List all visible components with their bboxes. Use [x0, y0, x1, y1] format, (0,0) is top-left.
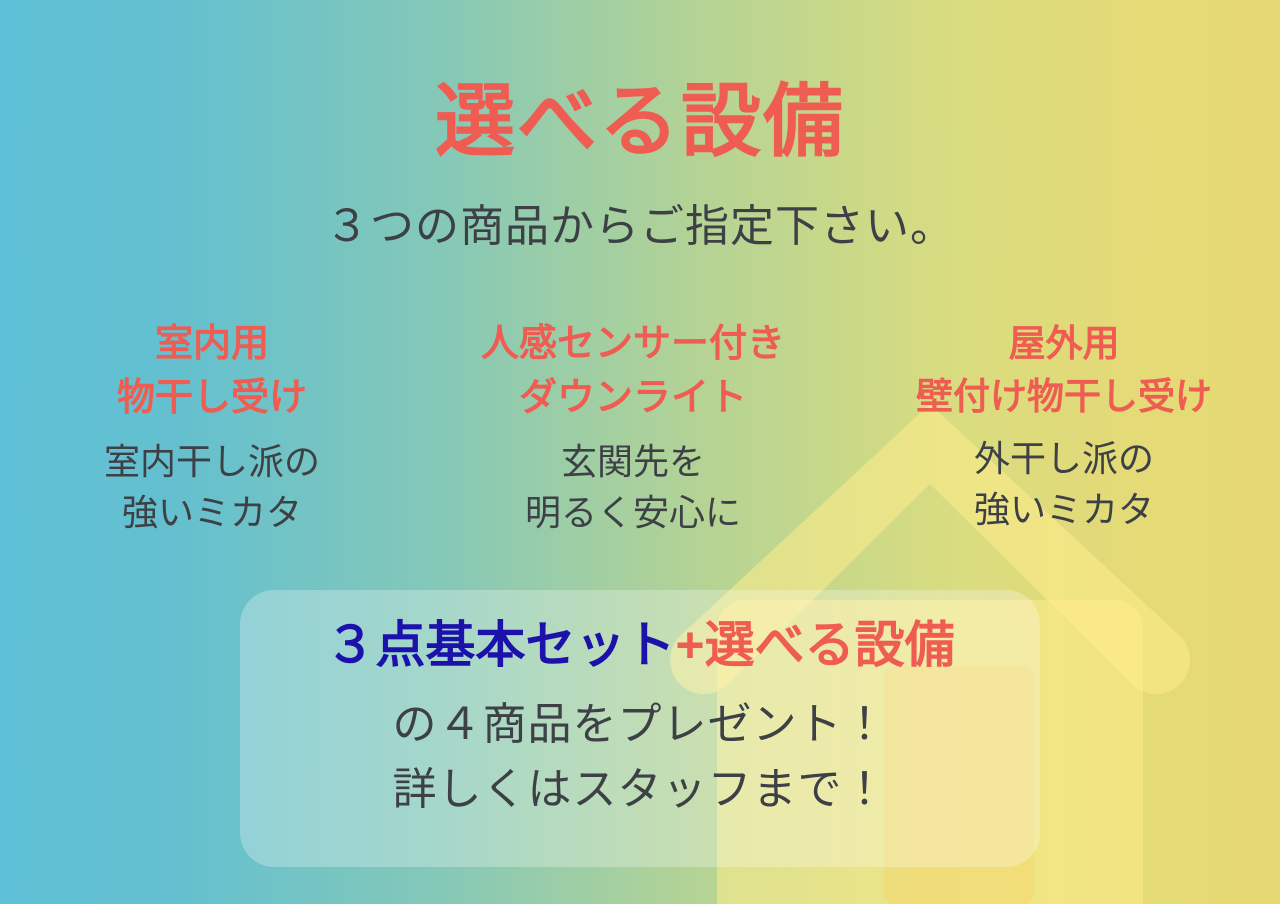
option-heading-line1: 室内用 — [12, 318, 412, 372]
option-desc-line1: 外干し派の — [854, 433, 1274, 484]
promo-plus-sign: + — [675, 617, 704, 673]
option-heading: 屋外用 壁付け物干し受け — [854, 318, 1274, 423]
option-columns: 室内用 物干し受け 室内干し派の 強いミカタ 人感センサー付き ダウンライト 玄… — [0, 318, 1280, 538]
promo-set-label: ３点基本セット — [325, 617, 675, 673]
option-heading-line1: 人感センサー付き — [433, 318, 833, 372]
promo-subline-1: の４商品をプレゼント！ — [0, 703, 1280, 747]
option-heading: 人感センサー付き ダウンライト — [433, 318, 833, 426]
promotional-poster: 選べる設備 ３つの商品からご指定下さい。 室内用 物干し受け 室内干し派の 強い… — [0, 0, 1280, 904]
option-heading-line2: ダウンライト — [433, 372, 833, 426]
option-description: 玄関先を 明るく安心に — [433, 436, 833, 538]
option-description: 室内干し派の 強いミカタ — [12, 436, 412, 538]
option-desc-line1: 玄関先を — [433, 436, 833, 487]
option-column-downlight: 人感センサー付き ダウンライト 玄関先を 明るく安心に — [433, 318, 833, 538]
option-desc-line2: 明るく安心に — [433, 487, 833, 538]
promo-headline: ３点基本セット+選べる設備 — [0, 620, 1280, 670]
promo-subline-2: 詳しくはスタッフまで！ — [0, 768, 1280, 812]
option-heading-line2: 壁付け物干し受け — [854, 371, 1274, 424]
option-column-indoor: 室内用 物干し受け 室内干し派の 強いミカタ — [12, 318, 412, 538]
option-heading: 室内用 物干し受け — [12, 318, 412, 426]
option-desc-line2: 強いミカタ — [12, 487, 412, 538]
option-desc-line1: 室内干し派の — [12, 436, 412, 487]
promo-equip-label: 選べる設備 — [705, 617, 955, 673]
page-title: 選べる設備 — [0, 82, 1280, 162]
option-heading-line2: 物干し受け — [12, 372, 412, 426]
option-description: 外干し派の 強いミカタ — [854, 433, 1274, 535]
option-heading-line1: 屋外用 — [854, 318, 1274, 371]
option-desc-line2: 強いミカタ — [854, 484, 1274, 535]
page-subtitle: ３つの商品からご指定下さい。 — [0, 205, 1280, 249]
option-column-outdoor: 屋外用 壁付け物干し受け 外干し派の 強いミカタ — [854, 318, 1274, 535]
